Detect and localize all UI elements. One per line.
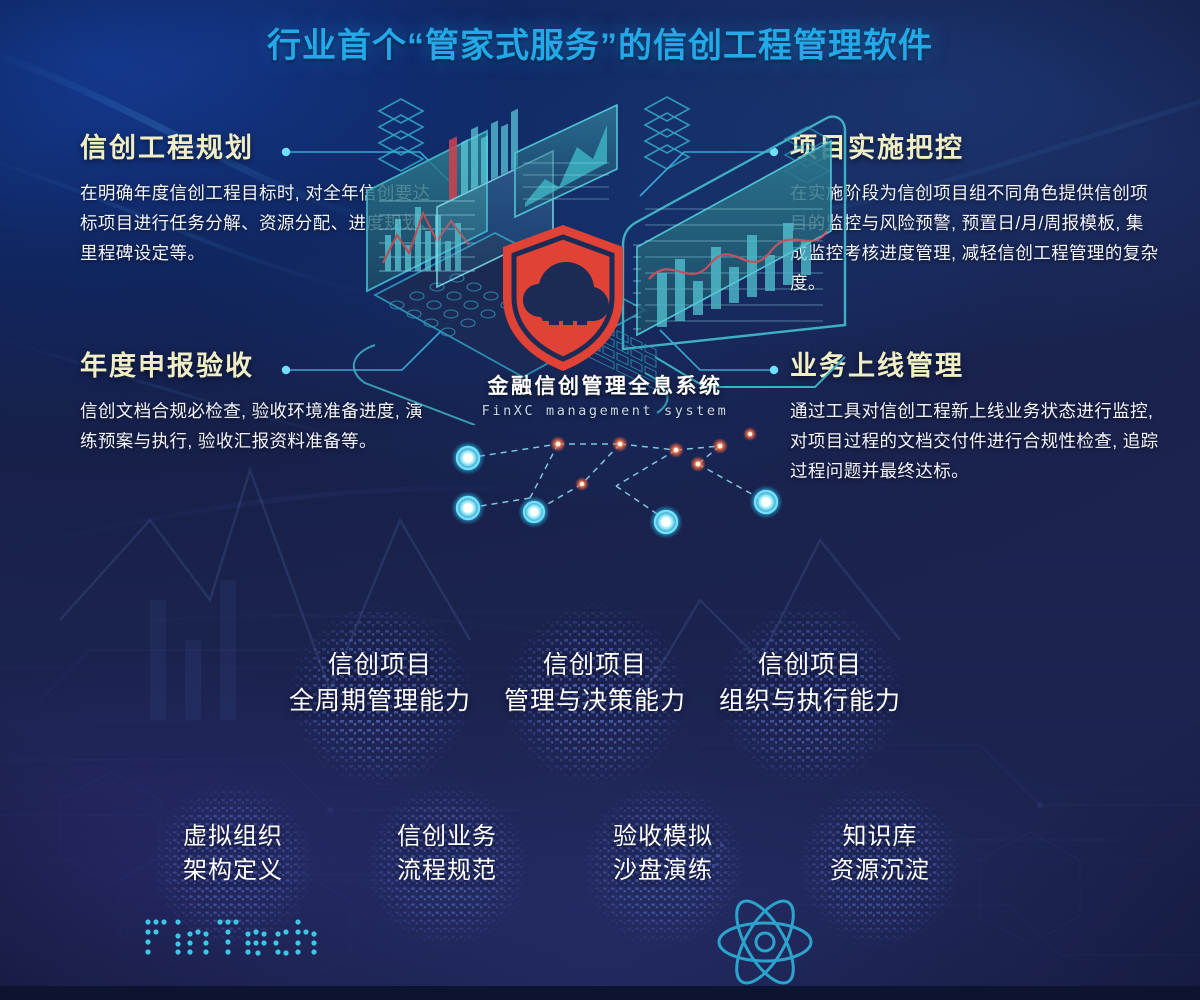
capability-line2: 组织与执行能力	[715, 684, 905, 720]
capability-line1: 信创项目	[500, 648, 690, 684]
floating-area-chart-screen	[515, 105, 617, 217]
node-spark-group	[550, 427, 757, 491]
capability-label: 信创项目 管理与决策能力	[500, 648, 690, 719]
desktop-monitor	[623, 117, 845, 387]
layer-stack-icon-left	[379, 99, 423, 171]
capability-line1: 信创项目	[715, 648, 905, 684]
capability-sphere-execution: 信创项目 组织与执行能力	[715, 600, 905, 790]
capability-sphere-lifecycle: 信创项目 全周期管理能力	[285, 600, 475, 790]
capability-line2: 管理与决策能力	[500, 684, 690, 720]
system-name-cn: 金融信创管理全息系统	[345, 370, 865, 400]
page-title: 行业首个“管家式服务”的信创工程管理软件	[0, 18, 1200, 67]
capability-sphere-decision: 信创项目 管理与决策能力	[500, 600, 690, 790]
glowing-node-network	[430, 420, 830, 550]
capability-line2: 全周期管理能力	[285, 684, 475, 720]
system-name-en: FinXC management system	[345, 403, 865, 419]
system-name-label: 金融信创管理全息系统 FinXC management system	[345, 370, 865, 419]
node-links	[468, 444, 766, 520]
bottom-binary-decoration	[0, 836, 1200, 986]
layer-stack-icon-right	[645, 97, 689, 169]
capability-label: 信创项目 组织与执行能力	[715, 648, 905, 719]
node-ring-group	[451, 441, 783, 539]
capability-line1: 信创项目	[285, 648, 475, 684]
capability-label: 信创项目 全周期管理能力	[285, 648, 475, 719]
